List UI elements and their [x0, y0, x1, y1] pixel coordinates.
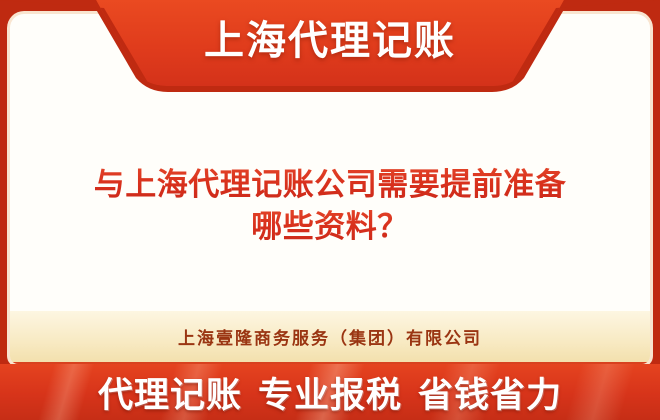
slogan-strip: 代理记账专业报税省钱省力 — [0, 364, 660, 420]
company-name: 上海壹隆商务服务（集团）有限公司 — [178, 324, 482, 349]
company-band: 上海壹隆商务服务（集团）有限公司 — [10, 311, 650, 364]
poster-root: 代理记账专业报税省钱省力 与上海代理记账公司需要提前准备 哪些资料？ 上海壹隆商… — [0, 0, 660, 420]
slogan-part-3: 省钱省力 — [418, 376, 562, 415]
content-card: 与上海代理记账公司需要提前准备 哪些资料？ 上海壹隆商务服务（集团）有限公司 — [10, 14, 650, 364]
slogan-part-1: 代理记账 — [98, 376, 242, 415]
headline-line-2: 哪些资料？ — [38, 206, 622, 248]
headline-line-1: 与上海代理记账公司需要提前准备 — [38, 164, 622, 206]
slogan-part-2: 专业报税 — [258, 376, 402, 415]
slogan-text: 代理记账专业报税省钱省力 — [98, 367, 562, 418]
headline: 与上海代理记账公司需要提前准备 哪些资料？ — [38, 164, 622, 248]
